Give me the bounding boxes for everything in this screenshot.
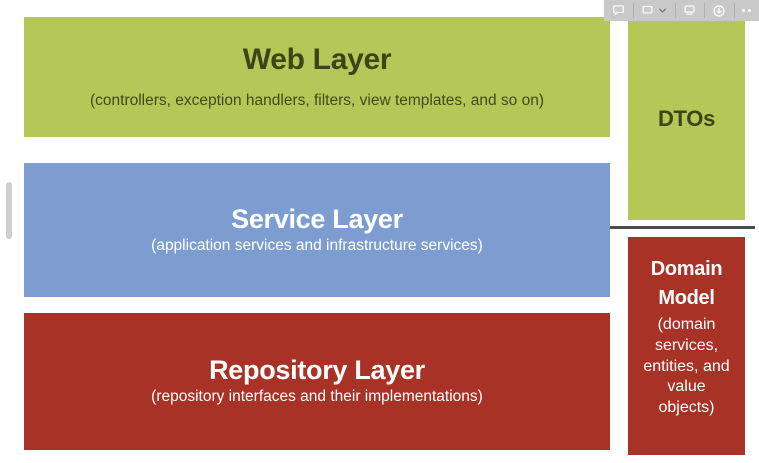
repository-layer-subtitle: (repository interfaces and their impleme… [151,388,483,407]
domain-model-box: Domain Model (domain services, entities,… [628,237,745,455]
service-layer-title: Service Layer [231,205,403,234]
web-layer-subtitle: (controllers, exception handlers, filter… [90,92,544,111]
vertical-scrollbar-handle[interactable] [6,182,12,239]
dtos-title: DTOs [658,107,715,131]
present-icon [641,4,654,17]
domain-model-title: Domain Model [638,255,735,313]
dtos-box: DTOs [628,17,745,220]
present-button[interactable] [633,0,675,21]
repository-layer-title: Repository Layer [209,356,425,385]
web-layer-box: Web Layer (controllers, exception handle… [24,17,610,137]
monitor-icon [683,4,696,17]
service-layer-subtitle: (application services and infrastructure… [151,237,483,256]
chevron-down-icon[interactable] [658,6,667,15]
fit-to-screen-button[interactable] [675,0,704,21]
web-layer-title: Web Layer [243,44,391,76]
repository-layer-box: Repository Layer (repository interfaces … [24,313,610,450]
comment-button[interactable] [604,0,633,21]
more-options-icon [742,9,751,12]
viewer-toolbar [604,0,759,21]
domain-model-subtitle: (domain services, entities, and value ob… [638,315,735,419]
diagram-canvas: Web Layer (controllers, exception handle… [0,0,759,463]
comment-icon [612,4,625,17]
download-button[interactable] [704,0,734,21]
column-divider [610,226,755,229]
service-layer-box: Service Layer (application services and … [24,163,610,297]
more-options-button[interactable] [734,0,759,21]
download-circle-icon [712,4,726,18]
